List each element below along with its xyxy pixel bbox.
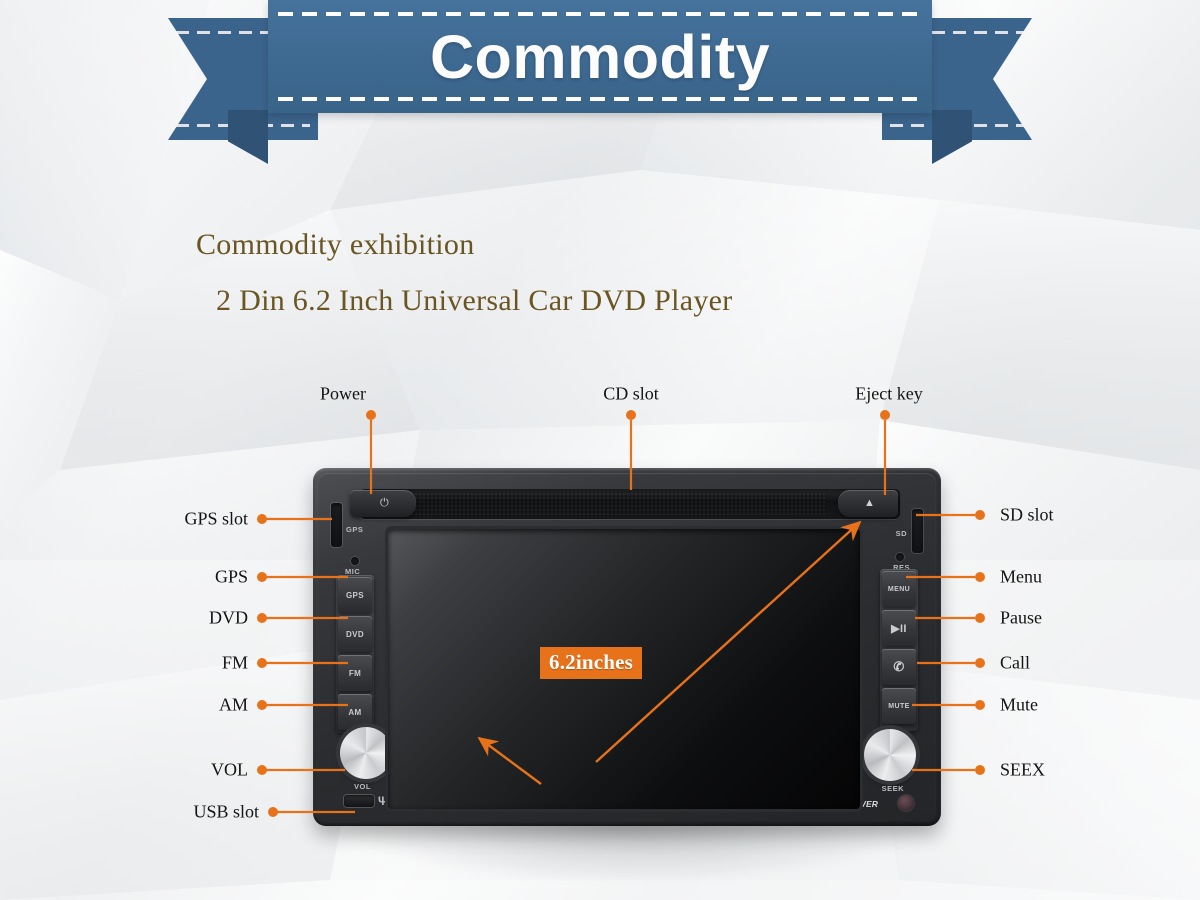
button-gps[interactable]: GPS bbox=[338, 577, 372, 613]
left-button-column: GPS DVD FM AM bbox=[336, 575, 374, 733]
callout-gps-slot: GPS slot bbox=[184, 509, 248, 530]
callout-power: Power bbox=[320, 384, 366, 405]
touch-screen[interactable]: 6.2inches bbox=[388, 529, 860, 809]
callout-am: AM bbox=[219, 695, 248, 716]
device-shadow bbox=[340, 822, 920, 882]
callout-fm: FM bbox=[222, 653, 248, 674]
ribbon-fold-right bbox=[932, 110, 972, 164]
button-am[interactable]: AM bbox=[338, 694, 372, 730]
callout-call: Call bbox=[1000, 653, 1030, 674]
device-faceplate: ⏻ ▲ GPS SD MIC RES GPS DVD bbox=[318, 473, 936, 821]
callout-eject-key: Eject key bbox=[855, 384, 922, 405]
gps-card-slot[interactable] bbox=[331, 503, 342, 547]
microphone-hole bbox=[351, 557, 359, 565]
sd-card-slot[interactable] bbox=[912, 509, 923, 553]
button-call[interactable]: ✆ bbox=[882, 649, 916, 685]
ribbon-banner: Commodity bbox=[268, 0, 932, 113]
reset-button[interactable] bbox=[896, 553, 904, 561]
callout-seex: SEEX bbox=[1000, 760, 1045, 781]
button-fm[interactable]: FM bbox=[338, 655, 372, 691]
ir-sensor bbox=[898, 795, 914, 811]
screen-size-badge: 6.2inches bbox=[540, 647, 642, 679]
usb-port[interactable] bbox=[344, 795, 374, 807]
callout-sd-slot: SD slot bbox=[1000, 505, 1054, 526]
ribbon-fold-left bbox=[228, 110, 268, 164]
banner-title: Commodity bbox=[268, 14, 932, 99]
button-mute[interactable]: MUTE bbox=[882, 688, 916, 724]
seek-knob-label: SEEK bbox=[882, 784, 904, 793]
callout-gps: GPS bbox=[215, 567, 248, 588]
heading-secondary: 2 Din 6.2 Inch Universal Car DVD Player bbox=[216, 284, 733, 318]
eject-button[interactable]: ▲ bbox=[838, 490, 898, 517]
callout-pause: Pause bbox=[1000, 608, 1042, 629]
button-pause[interactable]: ▶II bbox=[882, 610, 916, 646]
eject-icon: ▲ bbox=[864, 498, 875, 509]
callout-dvd: DVD bbox=[209, 608, 248, 629]
volume-knob-label: VOL bbox=[354, 782, 371, 791]
callout-usb-slot: USB slot bbox=[193, 802, 259, 823]
volume-knob[interactable] bbox=[340, 727, 392, 779]
gps-slot-label: GPS bbox=[346, 525, 363, 534]
product-diagram: ⏻ ▲ GPS SD MIC RES GPS DVD bbox=[0, 380, 1200, 900]
cd-slot-mesh bbox=[366, 492, 826, 516]
callout-menu: Menu bbox=[1000, 567, 1042, 588]
right-button-column: MENU ▶II ✆ MUTE bbox=[880, 569, 918, 731]
sd-slot-label: SD bbox=[896, 529, 907, 538]
page-root: Commodity Commodity exhibition 2 Din 6.2… bbox=[0, 0, 1200, 900]
usb-icon: Ψ bbox=[378, 794, 388, 808]
power-button[interactable]: ⏻ bbox=[350, 490, 416, 517]
button-dvd[interactable]: DVD bbox=[338, 616, 372, 652]
header-ribbon: Commodity bbox=[0, 0, 1200, 175]
car-dvd-unit: ⏻ ▲ GPS SD MIC RES GPS DVD bbox=[313, 468, 941, 826]
power-icon: ⏻ bbox=[380, 498, 389, 509]
callout-mute: Mute bbox=[1000, 695, 1038, 716]
heading-primary: Commodity exhibition bbox=[196, 228, 733, 262]
callout-vol: VOL bbox=[211, 760, 248, 781]
heading-block: Commodity exhibition 2 Din 6.2 Inch Univ… bbox=[196, 228, 733, 318]
callout-cd-slot: CD slot bbox=[603, 384, 659, 405]
button-menu[interactable]: MENU bbox=[882, 571, 916, 607]
seek-knob[interactable] bbox=[864, 729, 916, 781]
